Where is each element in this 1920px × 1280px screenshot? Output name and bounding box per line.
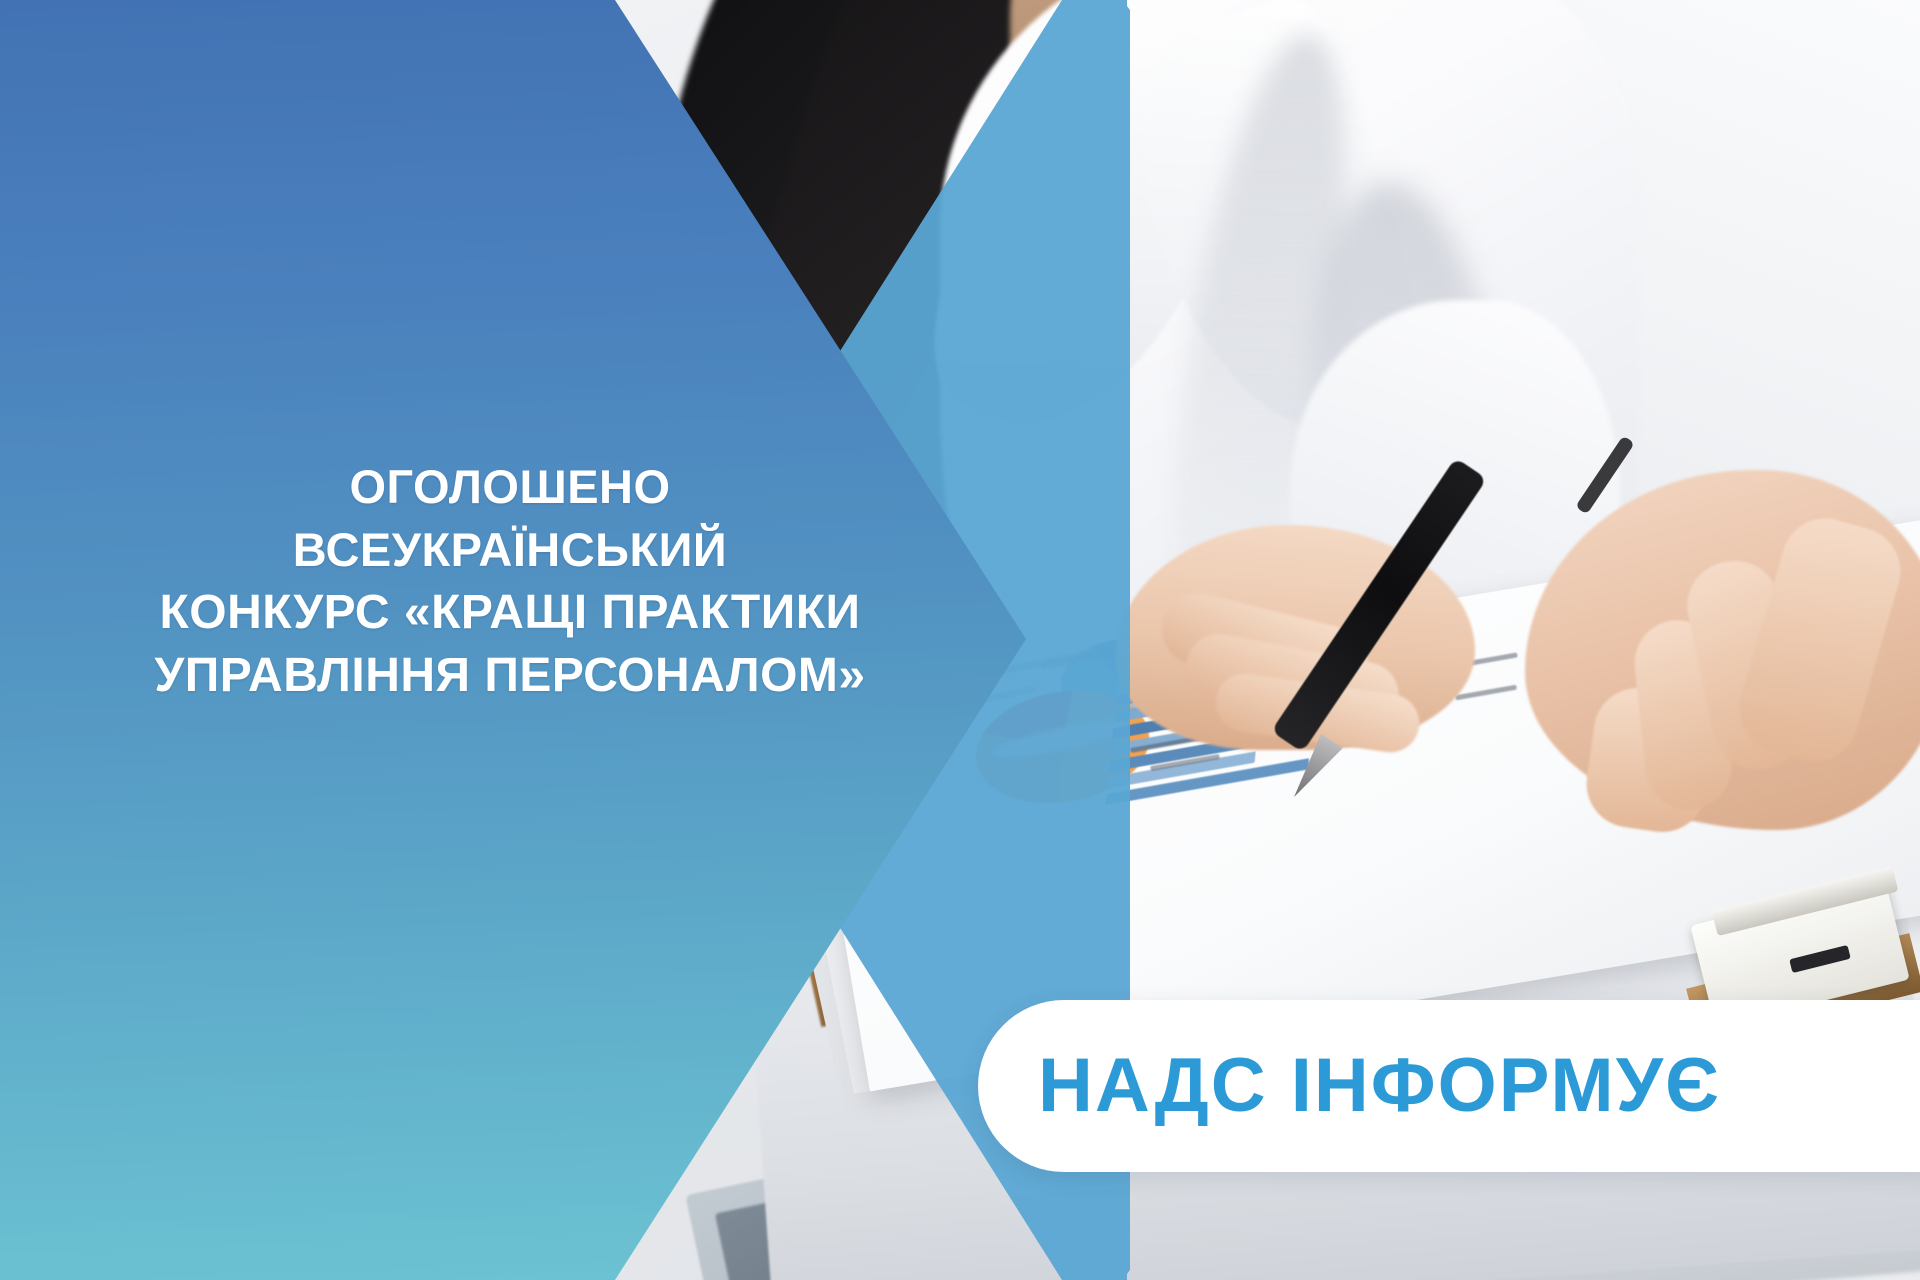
headline-line-4: УПРАВЛІННЯ ПЕРСОНАЛОМ»	[30, 644, 990, 707]
headline-block: ОГОЛОШЕНО ВСЕУКРАЇНСЬКИЙ КОНКУРС «КРАЩІ …	[0, 455, 1020, 707]
headline-line-2: ВСЕУКРАЇНСЬКИЙ	[30, 518, 990, 581]
poster-canvas: ОГОЛОШЕНО ВСЕУКРАЇНСЬКИЙ КОНКУРС «КРАЩІ …	[0, 0, 1920, 1280]
info-badge-label: НАДС ІНФОРМУЄ	[1038, 1048, 1721, 1124]
headline-line-3: КОНКУРС «КРАЩІ ПРАКТИКИ	[30, 581, 990, 644]
info-badge: НАДС ІНФОРМУЄ	[978, 1000, 1920, 1172]
headline-line-1: ОГОЛОШЕНО	[30, 455, 990, 518]
